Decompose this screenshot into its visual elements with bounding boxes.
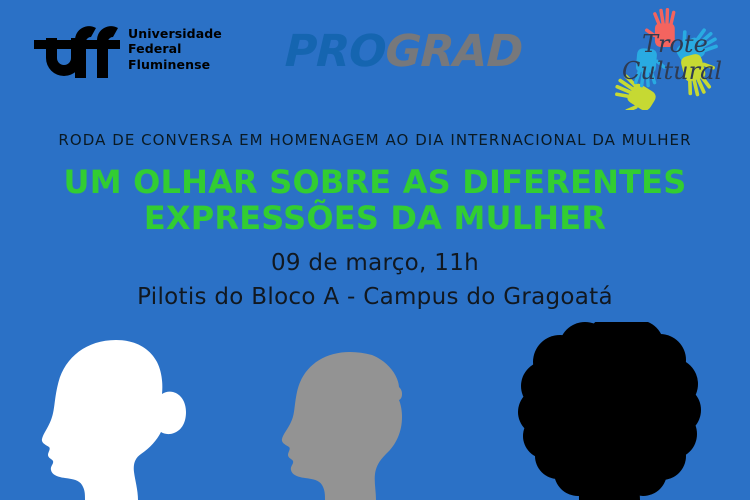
prograd-pro-text: PRO [284, 26, 386, 77]
uff-logo: Universidade Federal Fluminense [34, 20, 222, 78]
uff-name-line-1: Universidade [128, 26, 222, 42]
short-hair-profile-icon [280, 352, 440, 500]
afro-profile-icon [500, 322, 705, 500]
silhouette-short-hair [280, 352, 440, 500]
event-date: 09 de março, 11h [0, 246, 750, 280]
page-title: UM OLHAR SOBRE AS DIFERENTES EXPRESSÕES … [0, 164, 750, 236]
logo-row: Universidade Federal Fluminense PROGRAD [0, 0, 750, 115]
trote-cultural-logo: Trote Cultural [612, 6, 740, 110]
trote-line-2: Cultural [622, 57, 722, 85]
uff-wordmark: Universidade Federal Fluminense [128, 26, 222, 73]
trote-line-1: Trote [642, 30, 708, 58]
uff-name-line-2: Federal [128, 41, 222, 57]
silhouette-group [0, 300, 750, 500]
hands-icon: Trote Cultural [612, 6, 740, 110]
headline-line-1: UM OLHAR SOBRE AS DIFERENTES [0, 164, 750, 200]
woman-bun-profile-icon [38, 340, 228, 500]
prograd-grad-text: GRAD [385, 26, 523, 77]
uff-mark-icon [34, 20, 120, 78]
headline-line-2: EXPRESSÕES DA MULHER [0, 200, 750, 236]
silhouette-afro [500, 322, 705, 500]
uff-name-line-3: Fluminense [128, 57, 222, 73]
event-poster: Universidade Federal Fluminense PROGRAD [0, 0, 750, 500]
silhouette-woman-bun [38, 340, 228, 500]
event-kicker: RODA DE CONVERSA EM HOMENAGEM AO DIA INT… [0, 131, 750, 149]
prograd-logo: PROGRAD [284, 28, 523, 76]
